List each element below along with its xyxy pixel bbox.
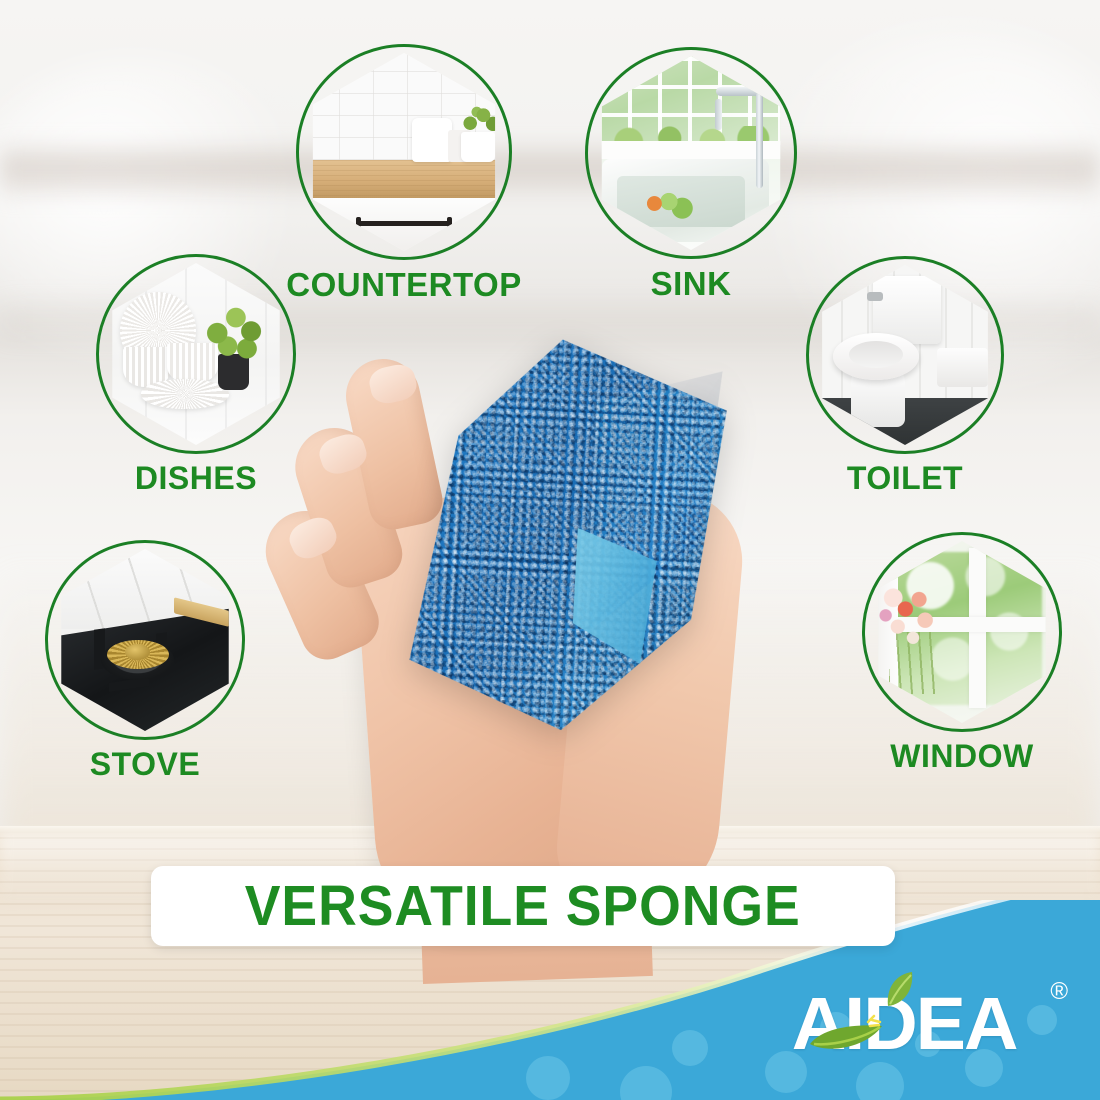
feature-toilet[interactable]: TOILET	[806, 256, 1004, 454]
feature-ring-window	[862, 532, 1062, 732]
feature-photo-window	[871, 541, 1053, 723]
feature-dishes[interactable]: DISHES	[96, 254, 296, 454]
feature-ring-countertop	[296, 44, 512, 260]
blue-scouring-sponge	[400, 332, 730, 738]
feature-sink[interactable]: SINK	[585, 47, 797, 259]
registered-trademark-icon: ®	[1050, 978, 1068, 1006]
feature-label-countertop: COUNTERTOP	[286, 266, 521, 304]
feature-ring-stove	[45, 540, 245, 740]
feature-label-stove: STOVE	[90, 746, 200, 783]
feature-countertop[interactable]: COUNTERTOP	[296, 44, 512, 260]
feature-photo-dishes	[105, 263, 287, 445]
feature-label-sink: SINK	[651, 265, 732, 303]
feature-photo-stove	[54, 549, 236, 731]
feature-photo-countertop	[305, 53, 503, 251]
feature-photo-toilet	[815, 265, 995, 445]
feature-label-dishes: DISHES	[135, 460, 257, 497]
feature-ring-toilet	[806, 256, 1004, 454]
page-title: VERSATILE SPONGE	[245, 873, 801, 939]
feature-window[interactable]: WINDOW	[862, 532, 1062, 732]
leaf-dot-icon	[880, 972, 922, 1012]
product-infographic: COUNTERTOP SINK	[0, 0, 1100, 1100]
feature-label-toilet: TOILET	[847, 460, 963, 497]
background-shelf-line	[0, 140, 1100, 196]
feature-label-window: WINDOW	[890, 738, 1033, 775]
feature-ring-sink	[585, 47, 797, 259]
feature-photo-sink	[594, 56, 788, 250]
headline-banner: VERSATILE SPONGE	[151, 866, 895, 946]
feature-stove[interactable]: STOVE	[45, 540, 245, 740]
brand-logo[interactable]: AIDEA ®	[794, 974, 1074, 1070]
feature-ring-dishes	[96, 254, 296, 454]
